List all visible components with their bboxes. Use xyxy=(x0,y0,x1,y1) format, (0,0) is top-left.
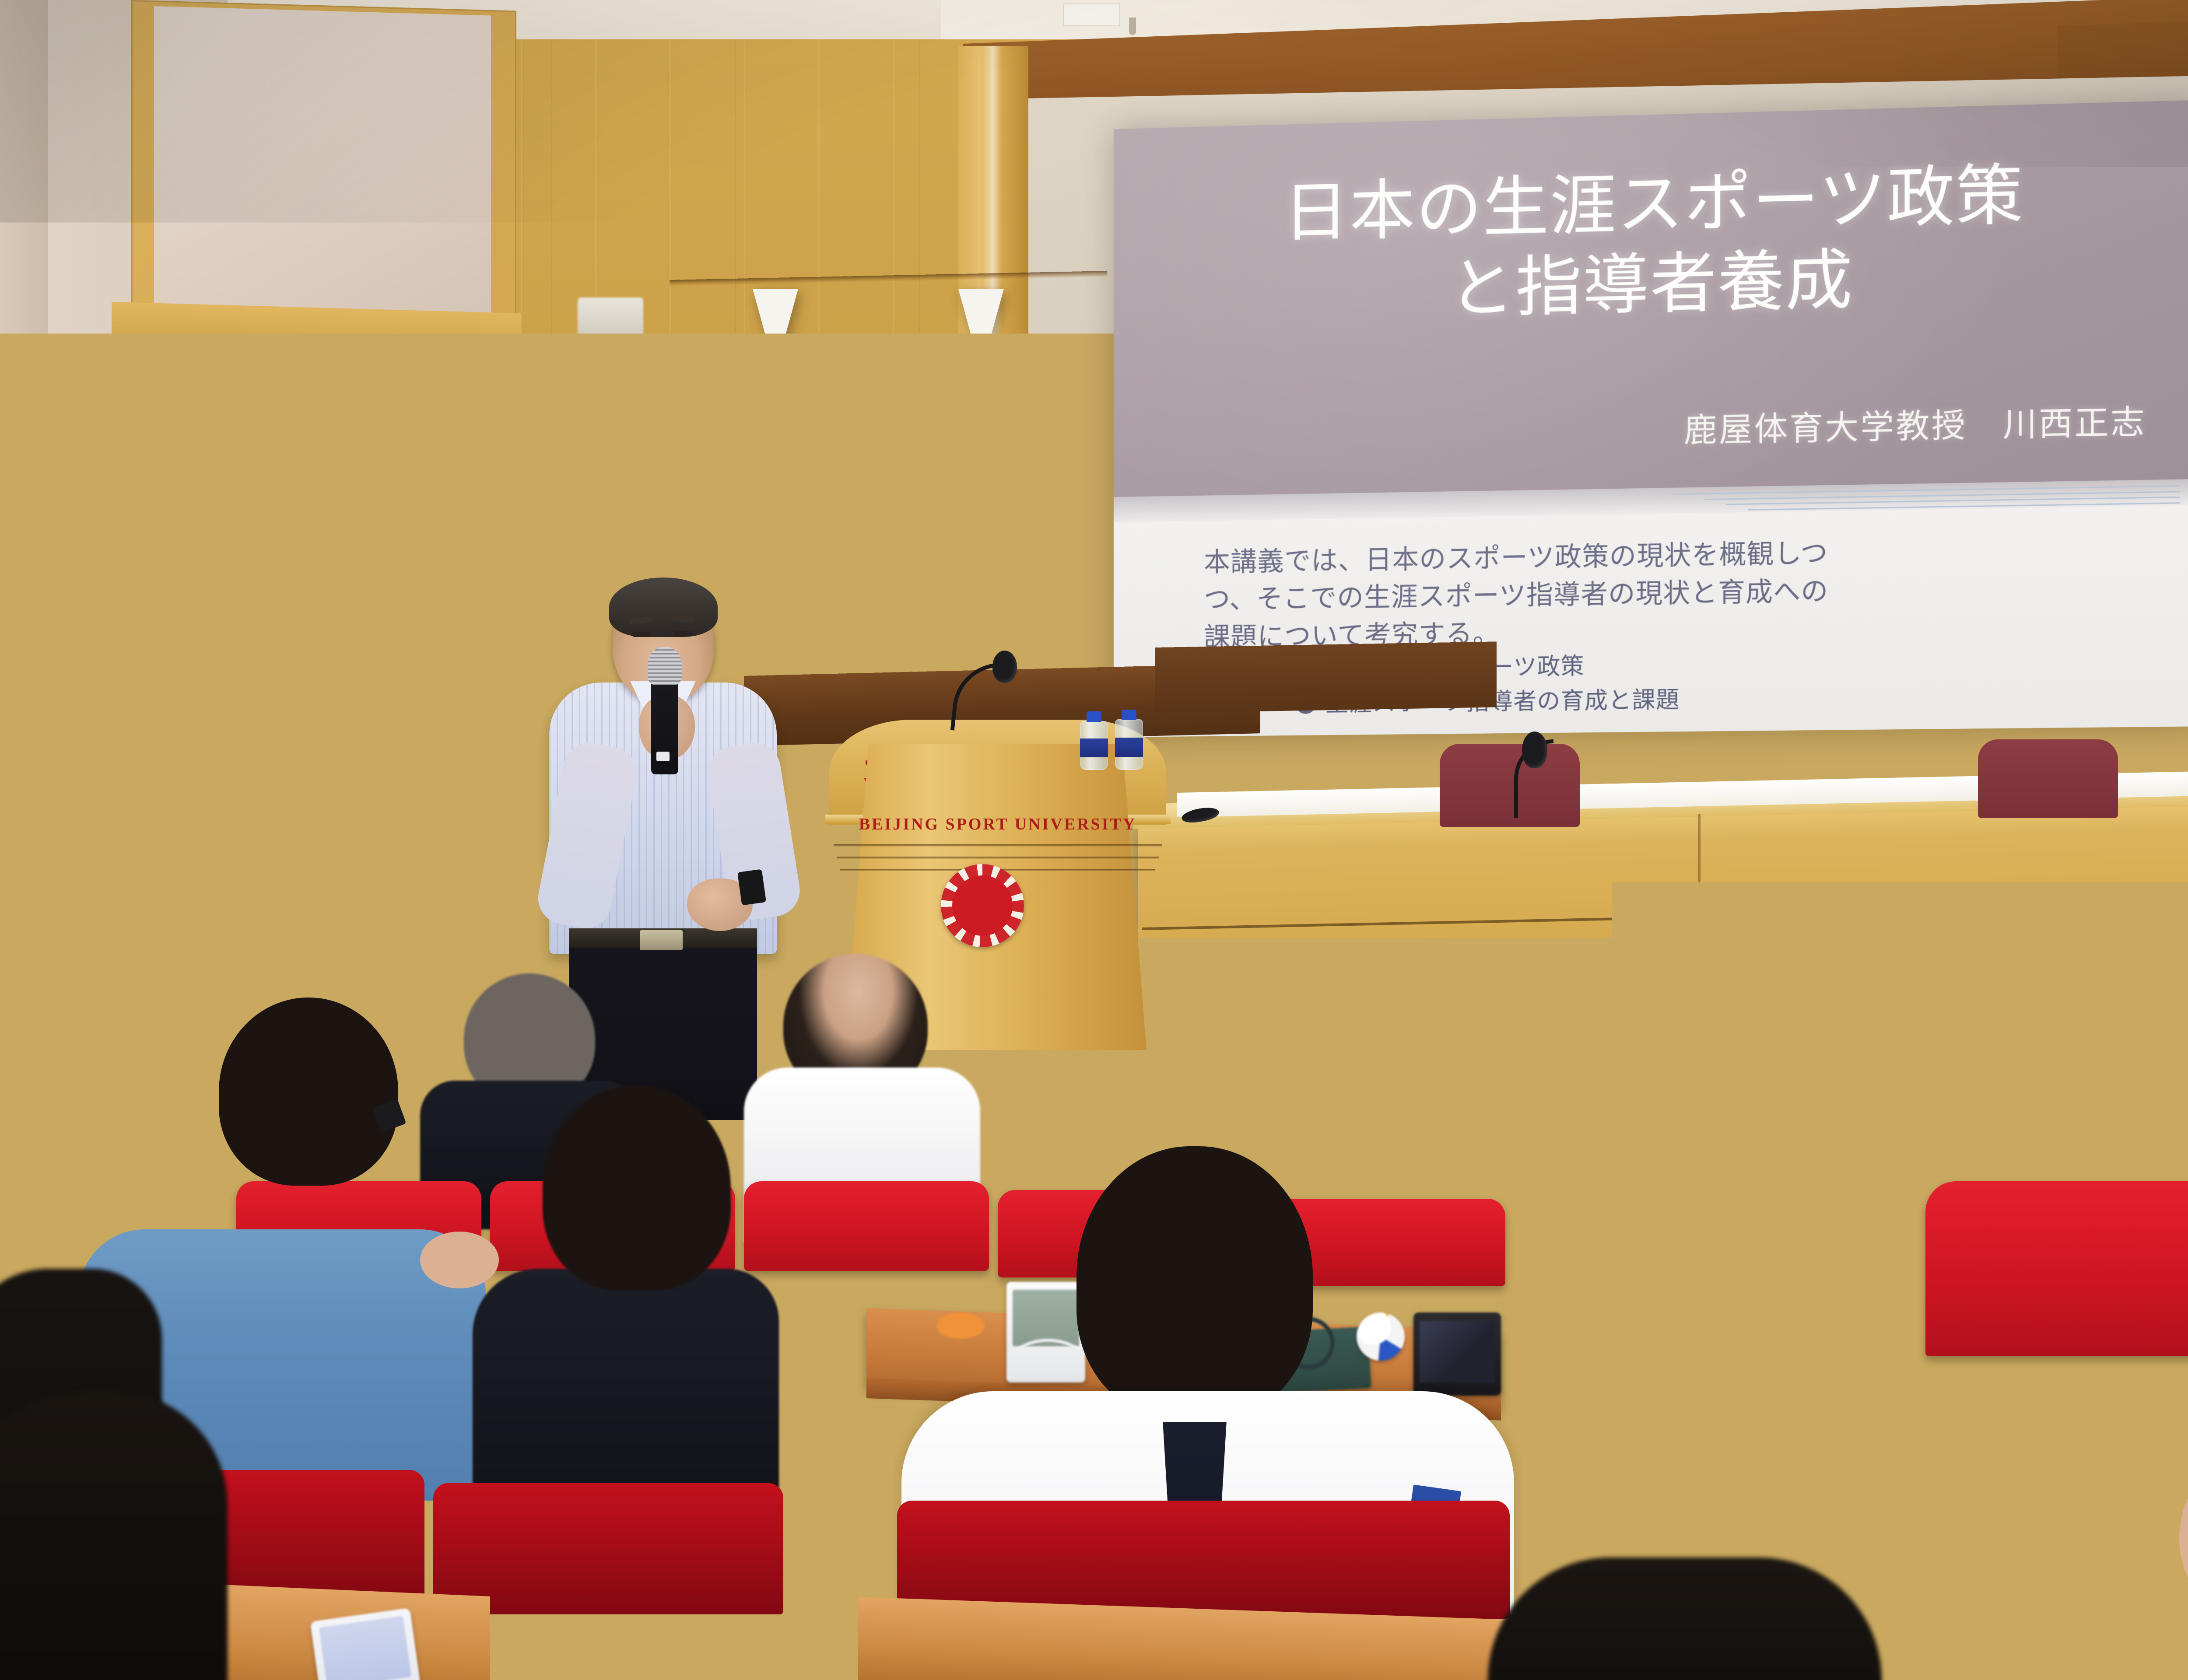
wall-sconce-lamp-icon xyxy=(958,289,1004,372)
podium-university-name-en: BEIJING SPORT UNIVERSITY xyxy=(836,815,1160,834)
slide-body-text: 本講義では、日本のスポーツ政策の現状を概観しつ つ、そこでの生涯スポーツ指導者の… xyxy=(1204,531,2096,656)
podium-groove xyxy=(834,844,1162,847)
logo-core-icon xyxy=(952,875,1013,936)
bottle-cap-icon xyxy=(1122,710,1136,720)
microphone-head-icon xyxy=(992,651,1017,683)
presentation-slide: 日本の生涯スポーツ政策 と指導者養成 鹿屋体育大学教授 川西正志 本講義では、日… xyxy=(1114,100,2188,737)
door-knob-icon[interactable] xyxy=(477,763,498,777)
charging-cable xyxy=(1006,1339,1090,1396)
microphone-head-icon xyxy=(648,647,682,685)
auditorium-seat[interactable] xyxy=(1895,1452,2188,1566)
university-logo xyxy=(941,864,1024,947)
audience-head xyxy=(543,1085,731,1291)
left-wall-return xyxy=(0,0,48,1137)
speaker-eye xyxy=(674,631,693,636)
audience-head-foreground xyxy=(0,1391,228,1680)
ceiling-sprinkler-icon xyxy=(1129,17,1136,35)
water-bottle[interactable] xyxy=(1115,719,1143,770)
speaker-wristwatch-icon xyxy=(737,869,766,905)
black-smartphone[interactable] xyxy=(1413,1312,1501,1396)
speaker-belt-buckle-icon xyxy=(640,930,683,950)
door-open-gap[interactable] xyxy=(501,416,522,998)
bottle-cap-icon xyxy=(780,952,795,962)
audience-head-foreground xyxy=(503,1540,897,1680)
stage-chair[interactable] xyxy=(1440,744,1580,827)
audience-head-foreground xyxy=(1488,1557,1882,1680)
head-table-seam xyxy=(1698,814,1701,1207)
head-table xyxy=(1138,798,2188,1212)
slide-title: 日本の生涯スポーツ政策 と指導者養成 xyxy=(1167,151,2146,335)
stage-chair[interactable] xyxy=(1978,739,2118,818)
speaker-eye xyxy=(632,632,651,637)
wall-bracket-light-icon xyxy=(578,297,643,350)
dark-wainscot-band xyxy=(1155,641,1497,713)
auditorium-seat[interactable] xyxy=(1925,1181,2188,1356)
water-bottle[interactable] xyxy=(1080,721,1108,770)
wall-sconce-lamp-icon xyxy=(753,289,798,372)
wrist-bracelet-icon xyxy=(936,1312,985,1339)
slide-author: 鹿屋体育大学教授 川西正志 xyxy=(1684,395,2146,452)
wall-panel-infill xyxy=(154,6,491,318)
speaker-hair xyxy=(609,577,718,637)
lecture-hall-photo: 日本の生涯スポーツ政策 と指導者養成 鹿屋体育大学教授 川西正志 本講義では、日… xyxy=(0,0,2188,1680)
ceiling-vent xyxy=(1063,3,1120,26)
door-hinge-icon xyxy=(512,442,536,472)
projection-screen: 日本の生涯スポーツ政策 と指導者養成 鹿屋体育大学教授 川西正志 本講義では、日… xyxy=(1114,100,2188,737)
microphone-label xyxy=(656,752,670,761)
audience-head xyxy=(219,997,398,1186)
audience-hands xyxy=(420,1232,499,1288)
bottle-cap-icon xyxy=(1087,711,1101,722)
door-panel-padded xyxy=(245,459,486,959)
microphone-head-icon xyxy=(1522,731,1547,768)
audience-head xyxy=(1076,1146,1313,1417)
auditorium-seat[interactable] xyxy=(744,1181,989,1271)
podium-groove xyxy=(837,857,1159,859)
mini-volleyball-icon[interactable] xyxy=(1357,1312,1405,1361)
